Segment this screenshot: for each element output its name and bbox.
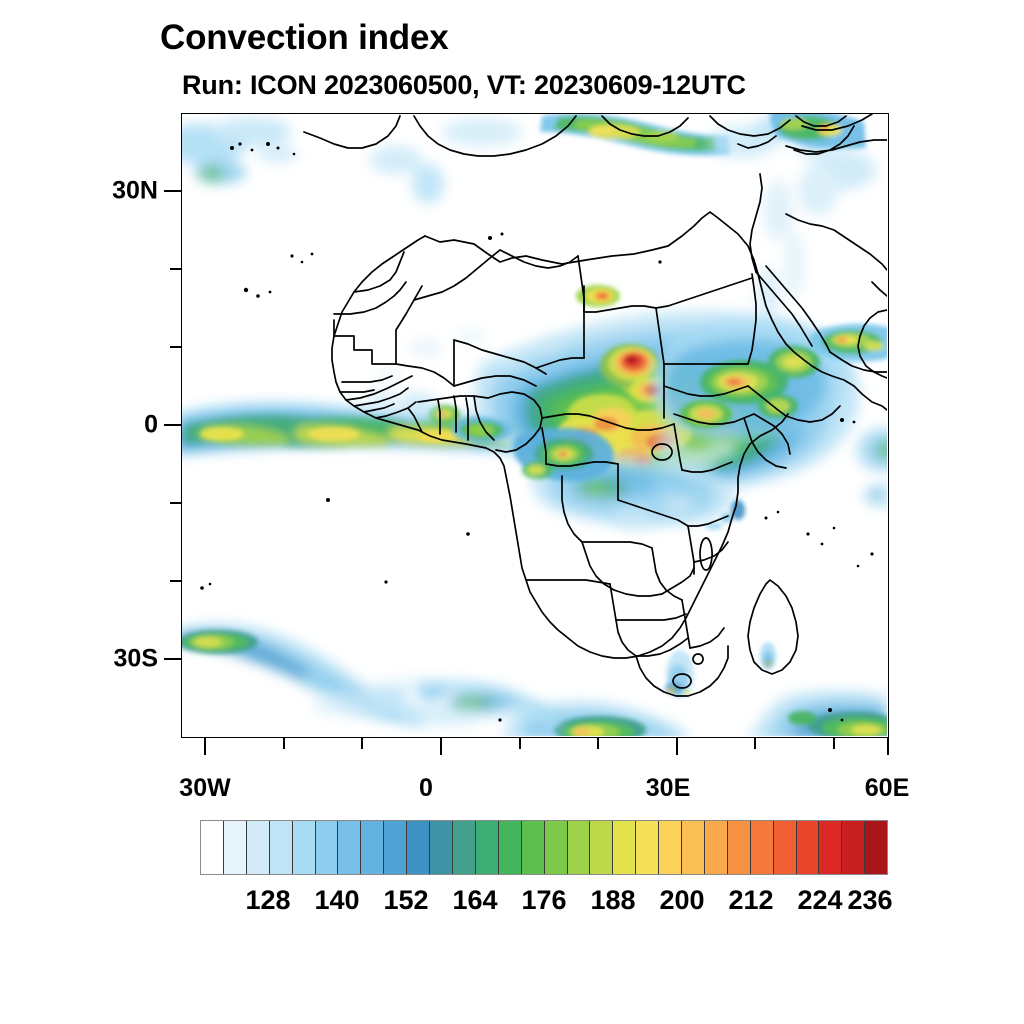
colorbar-cell-17: [590, 821, 613, 874]
colorbar-cell-19: [636, 821, 659, 874]
cbar-label-128: 128: [245, 885, 290, 916]
ytick-minor-20s: [170, 580, 181, 582]
xtick-minor-50e: [833, 738, 835, 749]
cbar-label-152: 152: [383, 885, 428, 916]
cbar-label-200: 200: [659, 885, 704, 916]
colorbar-cell-14: [522, 821, 545, 874]
ytick-minor-10s: [170, 502, 181, 504]
colorbar-cell-27: [819, 821, 842, 874]
cbar-label-140: 140: [314, 885, 359, 916]
colorbar-cell-20: [659, 821, 682, 874]
ytick-minor-10n: [170, 346, 181, 348]
ytick-minor-20n: [170, 268, 181, 270]
map-plot-area[interactable]: [181, 113, 889, 738]
cbar-label-176: 176: [521, 885, 566, 916]
cbar-label-224: 224: [797, 885, 842, 916]
xtick-major-60e: [887, 738, 889, 755]
xtick-minor-10e: [519, 738, 521, 749]
convection-index-figure: Convection index Run: ICON 2023060500, V…: [0, 0, 1024, 1024]
xtick-label-0: 0: [419, 774, 433, 803]
xtick-minor-40e: [754, 738, 756, 749]
xtick-label-60e: 60E: [865, 774, 909, 803]
colorbar-cell-11: [453, 821, 476, 874]
colorbar-cell-25: [774, 821, 797, 874]
ytick-major-0: [164, 424, 181, 426]
xtick-label-30w: 30W: [179, 774, 230, 803]
convection-field: [182, 114, 887, 736]
ytick-major-30s: [164, 658, 181, 660]
xtick-major-30w: [204, 738, 206, 755]
colorbar-cell-10: [430, 821, 453, 874]
colorbar-cell-9: [407, 821, 430, 874]
ytick-label-30n: 30N: [92, 177, 158, 206]
xtick-minor-20w: [283, 738, 285, 749]
colorbar[interactable]: [200, 820, 888, 875]
colorbar-cell-3: [270, 821, 293, 874]
colorbar-cell-18: [613, 821, 636, 874]
cbar-label-212: 212: [728, 885, 773, 916]
xtick-minor-10w: [361, 738, 363, 749]
colorbar-cell-22: [705, 821, 728, 874]
page-title: Convection index: [160, 18, 449, 58]
xtick-label-30e: 30E: [646, 774, 690, 803]
xtick-minor-20e: [597, 738, 599, 749]
colorbar-cell-26: [797, 821, 820, 874]
ytick-major-30n: [164, 190, 181, 192]
colorbar-cell-21: [682, 821, 705, 874]
colorbar-cell-7: [361, 821, 384, 874]
colorbar-cell-2: [247, 821, 270, 874]
map-canvas: [182, 114, 887, 736]
colorbar-cell-16: [568, 821, 591, 874]
colorbar-cell-15: [545, 821, 568, 874]
colorbar-cell-24: [751, 821, 774, 874]
cbar-label-188: 188: [590, 885, 635, 916]
colorbar-cell-28: [842, 821, 865, 874]
colorbar-cell-12: [476, 821, 499, 874]
cbar-label-236: 236: [847, 885, 892, 916]
colorbar-cell-5: [316, 821, 339, 874]
colorbar-cell-29: [865, 821, 887, 874]
ytick-label-0: 0: [92, 411, 158, 440]
colorbar-cell-8: [384, 821, 407, 874]
xtick-major-30e: [676, 738, 678, 755]
colorbar-cell-23: [728, 821, 751, 874]
colorbar-cell-0: [201, 821, 224, 874]
figure-subtitle: Run: ICON 2023060500, VT: 20230609-12UTC: [182, 70, 746, 101]
colorbar-cell-4: [293, 821, 316, 874]
cbar-label-164: 164: [452, 885, 497, 916]
colorbar-cell-13: [499, 821, 522, 874]
ytick-label-30s: 30S: [92, 645, 158, 674]
xtick-major-0: [440, 738, 442, 755]
colorbar-cell-6: [338, 821, 361, 874]
colorbar-cell-1: [224, 821, 247, 874]
